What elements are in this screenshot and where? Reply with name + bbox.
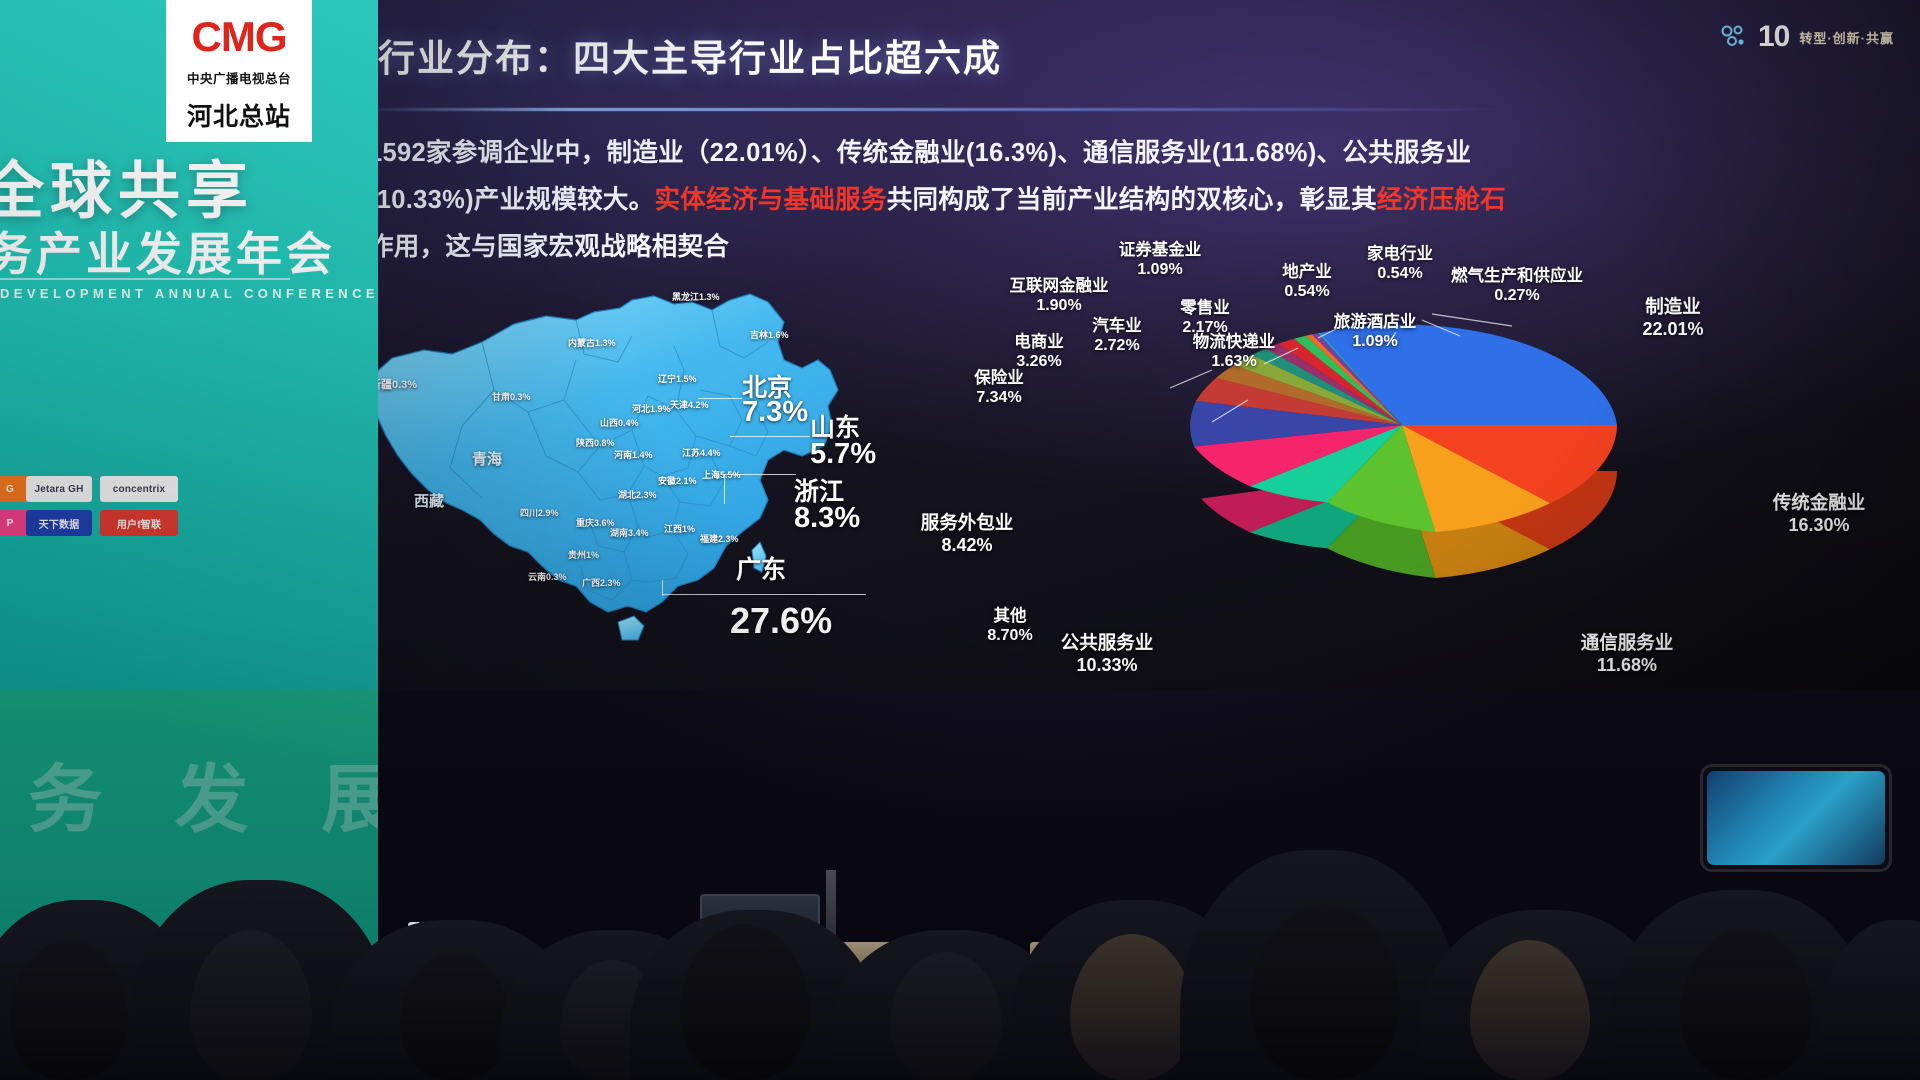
pie-label-lvyou-value: 1.09% <box>1290 332 1460 352</box>
banner-subtitle-en: DEVELOPMENT ANNUAL CONFERENCE <box>0 286 300 301</box>
map-label-guangxi: 广西2.3% <box>582 576 621 589</box>
flower-icon <box>1718 22 1748 52</box>
callout-guangdong-value: 27.6% <box>730 600 832 642</box>
pie-label-wuliu-value: 1.63% <box>1144 352 1324 372</box>
conference-watermark: 10 转型·创新·共赢 <box>1718 20 1894 54</box>
leader-line-guangdong <box>662 594 866 595</box>
banner-title-line2: 务产业发展年会 <box>0 218 326 284</box>
cmg-logo-card: CMG 中央广播电视总台 河北总站 <box>166 0 312 142</box>
map-label-heilongjiang: 黑龙江1.3% <box>672 290 720 303</box>
sponsor-logo-2: Jetara GH <box>26 476 92 502</box>
slide-title: 行业分布：四大主导行业占比超六成 <box>378 28 1002 82</box>
map-label-yunnan: 云南0.3% <box>528 570 567 583</box>
leader-line-shandong <box>730 436 810 437</box>
map-label-guizhou: 贵州1% <box>568 548 599 561</box>
screenshot-stage: 10 转型·创新·共赢 行业分布：四大主导行业占比超六成 1592家参调企业中，… <box>0 0 1920 1080</box>
pie-label-tongxin: 通信服务业 11.68% <box>1532 632 1722 677</box>
map-label-jiangxi: 江西1% <box>664 522 695 535</box>
pie-label-hulianwang-value: 1.90% <box>964 296 1154 316</box>
cmg-logo-icon: CMG <box>186 14 292 60</box>
pie-label-zhizao-value: 22.01% <box>1598 319 1748 341</box>
industry-pie-chart: 其他 8.70% 公共服务业 10.33% 服务外包业 8.42% 保险业 7.… <box>912 240 1912 670</box>
pie-label-gonggong-name: 公共服务业 <box>1012 632 1202 655</box>
pie-label-waibao-value: 8.42% <box>872 535 1062 557</box>
map-label-henan: 河南1.4% <box>614 448 653 461</box>
sponsor-logo-3: concentrix <box>100 476 178 502</box>
pie-label-lvyou: 旅游酒店业 1.09% <box>1290 312 1460 352</box>
map-label-sichuan: 四川2.9% <box>520 506 559 519</box>
pie-label-dichan-value: 0.54% <box>1242 282 1372 302</box>
sponsor-logo-5: 天下数据 <box>26 510 92 536</box>
anniversary-number: 10 <box>1758 20 1789 54</box>
leader-line-guangdong-v <box>662 580 663 596</box>
cmg-org-name: 中央广播电视总台 <box>187 68 291 87</box>
projection-screen: 10 转型·创新·共赢 行业分布：四大主导行业占比超六成 1592家参调企业中，… <box>312 0 1920 690</box>
pie-label-baoxian: 保险业 7.34% <box>924 368 1074 408</box>
pie-label-zhizao: 制造业 22.01% <box>1598 296 1748 341</box>
map-label-shanxi: 山西0.4% <box>600 416 639 429</box>
slide-body-segment-1: 实体经济与基础服务 <box>654 186 886 214</box>
map-label-anhui: 安徽2.1% <box>658 474 697 487</box>
map-label-hubei: 湖北2.3% <box>618 488 657 501</box>
map-label-fujian: 福建2.3% <box>700 532 739 545</box>
leader-line-beijing <box>698 398 742 399</box>
pie-label-zhengquan-value: 1.09% <box>1070 260 1250 280</box>
banner-lower-panel <box>0 690 378 1010</box>
sponsor-logo-4: P <box>0 510 34 536</box>
banner-ghost-text: 务 发 展 <box>28 740 378 847</box>
pie-label-zhizao-name: 制造业 <box>1598 296 1748 319</box>
pie-label-chuantong-value: 16.30% <box>1724 515 1914 537</box>
map-label-chongqing: 重庆3.6% <box>576 516 615 529</box>
pie-label-zhengquan: 证券基金业 1.09% <box>1070 240 1250 280</box>
sponsor-logo-6: 用户f智联 <box>100 510 178 536</box>
callout-shandong-value: 5.7% <box>810 438 876 471</box>
pie-label-waibao: 服务外包业 8.42% <box>872 512 1062 557</box>
pie-label-waibao-name: 服务外包业 <box>872 512 1062 535</box>
map-label-inner-mongolia: 内蒙古1.3% <box>568 336 616 349</box>
map-label-gansu: 甘肃0.3% <box>492 390 531 403</box>
sponsor-logo-strip: G Jetara GH concentrix P 天下数据 用户f智联 <box>0 470 200 546</box>
map-label-xizang: 西藏 <box>414 490 444 511</box>
cmg-station-name: 河北总站 <box>187 97 291 133</box>
banner-divider <box>0 278 290 280</box>
leader-line-zhejiang <box>724 474 796 475</box>
cmg-logo-text: CMG <box>186 14 292 60</box>
map-label-shaanxi: 陕西0.8% <box>576 436 615 449</box>
sponsor-logo-1: G <box>0 476 34 502</box>
callout-zhejiang-value: 8.3% <box>794 502 860 535</box>
pie-label-chuantong: 传统金融业 16.30% <box>1724 492 1914 537</box>
map-label-liaoning: 辽宁1.5% <box>658 372 697 385</box>
slide-body-segment-2: 共同构成了当前产业结构的双核心，彰显其 <box>887 186 1377 214</box>
banner-title-line1: 全球共享 <box>0 140 312 230</box>
title-divider <box>360 108 1510 111</box>
pie-label-zhengquan-name: 证券基金业 <box>1070 240 1250 260</box>
map-label-jiangsu: 江苏4.4% <box>682 446 721 459</box>
pie-label-ranqi-name: 燃气生产和供应业 <box>1412 266 1622 286</box>
pie-label-baoxian-value: 7.34% <box>924 388 1074 408</box>
pie-label-jiadian-name: 家电行业 <box>1330 244 1470 264</box>
pie-label-tongxin-value: 11.68% <box>1532 655 1722 677</box>
pie-label-tongxin-name: 通信服务业 <box>1532 632 1722 655</box>
map-label-jilin: 吉林1.6% <box>750 328 789 341</box>
leader-line-zhejiang-v <box>724 474 725 504</box>
map-label-hebei: 河北1.9% <box>632 402 671 415</box>
slide-body-segment-3: 经济压舱石 <box>1377 186 1506 214</box>
map-label-tianjin: 天津4.2% <box>670 398 709 411</box>
map-label-hunan: 湖南3.4% <box>610 526 649 539</box>
pie-label-chuantong-name: 传统金融业 <box>1724 492 1914 515</box>
callout-guangdong-name: 广东 <box>736 550 786 586</box>
pie-label-lvyou-name: 旅游酒店业 <box>1290 312 1460 332</box>
venue-banner: 全球共享 务产业发展年会 DEVELOPMENT ANNUAL CONFEREN… <box>0 0 378 1010</box>
callout-beijing-value: 7.3% <box>742 396 808 429</box>
map-label-qinghai: 青海 <box>472 448 502 469</box>
pie-label-ranqi: 燃气生产和供应业 0.27% <box>1412 266 1622 306</box>
pie-label-ranqi-value: 0.27% <box>1412 286 1622 306</box>
pie-label-gonggong: 公共服务业 10.33% <box>1012 632 1202 677</box>
china-map: 新疆0.3% 甘肃0.3% 内蒙古1.3% 黑龙江1.3% 吉林1.6% 辽宁1… <box>332 250 932 670</box>
conference-slogan: 转型·创新·共赢 <box>1799 28 1894 47</box>
pie-label-qita-name: 其他 <box>930 606 1090 626</box>
pie-label-gonggong-value: 10.33% <box>1012 655 1202 677</box>
pie-label-hulianwang: 互联网金融业 1.90% <box>964 276 1154 316</box>
